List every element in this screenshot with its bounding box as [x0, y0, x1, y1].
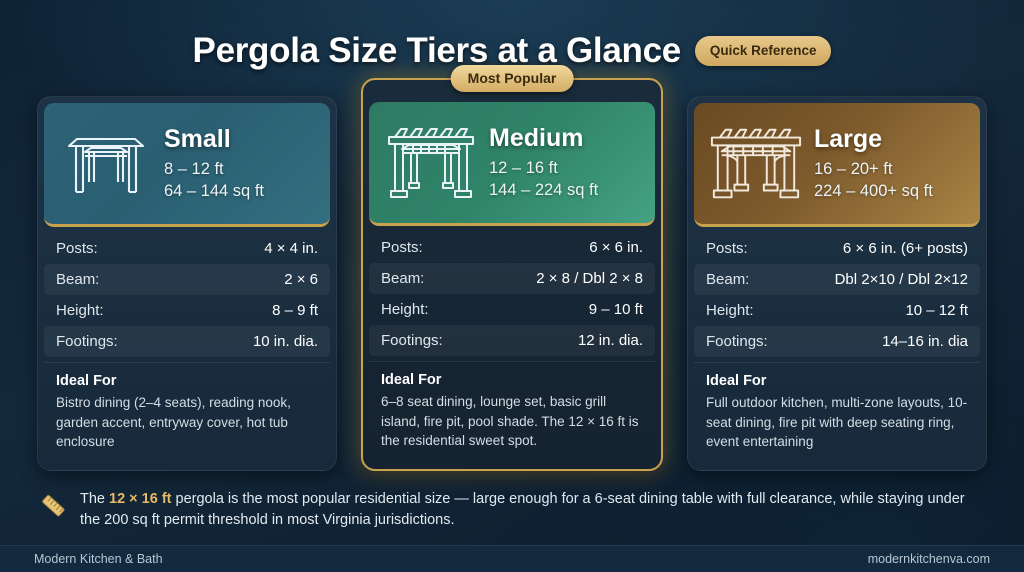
spec-label: Beam: — [56, 271, 99, 288]
card-header-text-large: Large 16 – 20+ ft 224 – 400+ sq ft — [814, 126, 966, 202]
spec-value: 6 × 6 in. — [589, 239, 643, 256]
ideal-for-title: Ideal For — [706, 373, 968, 389]
tier-area: 224 – 400+ sq ft — [814, 180, 966, 202]
ideal-for-text: Bistro dining (2–4 seats), reading nook,… — [56, 393, 318, 452]
spec-label: Footings: — [381, 332, 443, 349]
spec-label: Posts: — [56, 240, 98, 257]
footer-bar: Modern Kitchen & Bath modernkitchenva.co… — [0, 545, 1024, 572]
footnote-suffix: pergola is the most popular residential … — [80, 491, 965, 529]
spec-value: 10 in. dia. — [253, 333, 318, 350]
spec-value: 2 × 6 — [284, 271, 318, 288]
spec-list-large: Posts: 6 × 6 in. (6+ posts) Beam: Dbl 2×… — [694, 227, 980, 357]
spec-label: Beam: — [706, 271, 749, 288]
table-row: Posts: 6 × 6 in. (6+ posts) — [694, 233, 980, 264]
spec-label: Height: — [381, 301, 429, 318]
footnote-prefix: The — [80, 491, 109, 507]
ideal-for-title: Ideal For — [56, 373, 318, 389]
spec-value: 2 × 8 / Dbl 2 × 8 — [536, 270, 643, 287]
spec-list-small: Posts: 4 × 4 in. Beam: 2 × 6 Height: 8 –… — [44, 227, 330, 357]
ideal-for-section-medium: Ideal For 6–8 seat dining, lounge set, b… — [369, 361, 655, 463]
tier-span: 12 – 16 ft — [489, 157, 641, 179]
card-header-small: Small 8 – 12 ft 64 – 144 sq ft — [44, 103, 330, 227]
pergola-medium-icon — [383, 127, 479, 201]
tier-name: Large — [814, 126, 966, 154]
ideal-for-text: 6–8 seat dining, lounge set, basic grill… — [381, 392, 643, 451]
tier-cards: Small 8 – 12 ft 64 – 144 sq ft Posts: 4 … — [0, 96, 1024, 471]
table-row: Footings: 12 in. dia. — [369, 325, 655, 356]
spec-label: Posts: — [706, 240, 748, 257]
pergola-small-icon — [58, 130, 154, 200]
spec-label: Height: — [706, 302, 754, 319]
spec-value: 8 – 9 ft — [272, 302, 318, 319]
most-popular-badge: Most Popular — [451, 65, 574, 92]
footnote-text: The 12 × 16 ft pergola is the most popul… — [80, 489, 986, 533]
spec-value: 6 × 6 in. (6+ posts) — [843, 240, 968, 257]
footer-website[interactable]: modernkitchenva.com — [868, 552, 990, 566]
spec-value: 14–16 in. dia — [882, 333, 968, 350]
spec-value: 9 – 10 ft — [589, 301, 643, 318]
footnote-highlight: 12 × 16 ft — [109, 491, 171, 507]
card-header-large: Large 16 – 20+ ft 224 – 400+ sq ft — [694, 103, 980, 227]
spec-label: Beam: — [381, 270, 424, 287]
tier-name: Small — [164, 126, 316, 154]
table-row: Height: 10 – 12 ft — [694, 295, 980, 326]
ideal-for-text: Full outdoor kitchen, multi-zone layouts… — [706, 393, 968, 452]
spec-label: Footings: — [706, 333, 768, 350]
tier-card-large[interactable]: Large 16 – 20+ ft 224 – 400+ sq ft Posts… — [687, 96, 987, 471]
spec-value: 10 – 12 ft — [905, 302, 968, 319]
footer-brand: Modern Kitchen & Bath — [34, 552, 163, 566]
table-row: Height: 9 – 10 ft — [369, 294, 655, 325]
spec-label: Footings: — [56, 333, 118, 350]
ruler-icon — [38, 491, 68, 526]
tier-area: 64 – 144 sq ft — [164, 180, 316, 202]
table-row: Beam: 2 × 6 — [44, 264, 330, 295]
spec-list-medium: Posts: 6 × 6 in. Beam: 2 × 8 / Dbl 2 × 8… — [369, 226, 655, 356]
table-row: Height: 8 – 9 ft — [44, 295, 330, 326]
tier-card-small[interactable]: Small 8 – 12 ft 64 – 144 sq ft Posts: 4 … — [37, 96, 337, 471]
spec-label: Height: — [56, 302, 104, 319]
tier-card-medium[interactable]: Most Popular — [361, 78, 663, 471]
table-row: Footings: 14–16 in. dia — [694, 326, 980, 357]
table-row: Beam: Dbl 2×10 / Dbl 2×12 — [694, 264, 980, 295]
tier-span: 16 – 20+ ft — [814, 158, 966, 180]
table-row: Posts: 6 × 6 in. — [369, 232, 655, 263]
page-title: Pergola Size Tiers at a Glance — [193, 31, 681, 71]
table-row: Footings: 10 in. dia. — [44, 326, 330, 357]
ideal-for-section-small: Ideal For Bistro dining (2–4 seats), rea… — [44, 362, 330, 464]
spec-value: Dbl 2×10 / Dbl 2×12 — [835, 271, 968, 288]
tier-span: 8 – 12 ft — [164, 158, 316, 180]
pergola-large-icon — [708, 127, 804, 203]
ideal-for-title: Ideal For — [381, 372, 643, 388]
tier-name: Medium — [489, 125, 641, 153]
spec-value: 12 in. dia. — [578, 332, 643, 349]
quick-reference-badge: Quick Reference — [695, 36, 832, 66]
table-row: Beam: 2 × 8 / Dbl 2 × 8 — [369, 263, 655, 294]
table-row: Posts: 4 × 4 in. — [44, 233, 330, 264]
card-header-medium: Medium 12 – 16 ft 144 – 224 sq ft — [369, 102, 655, 226]
spec-value: 4 × 4 in. — [264, 240, 318, 257]
ideal-for-section-large: Ideal For Full outdoor kitchen, multi-zo… — [694, 362, 980, 464]
spec-label: Posts: — [381, 239, 423, 256]
footnote: The 12 × 16 ft pergola is the most popul… — [34, 487, 990, 535]
card-header-text-small: Small 8 – 12 ft 64 – 144 sq ft — [164, 126, 316, 202]
tier-area: 144 – 224 sq ft — [489, 179, 641, 201]
card-header-text-medium: Medium 12 – 16 ft 144 – 224 sq ft — [489, 125, 641, 201]
